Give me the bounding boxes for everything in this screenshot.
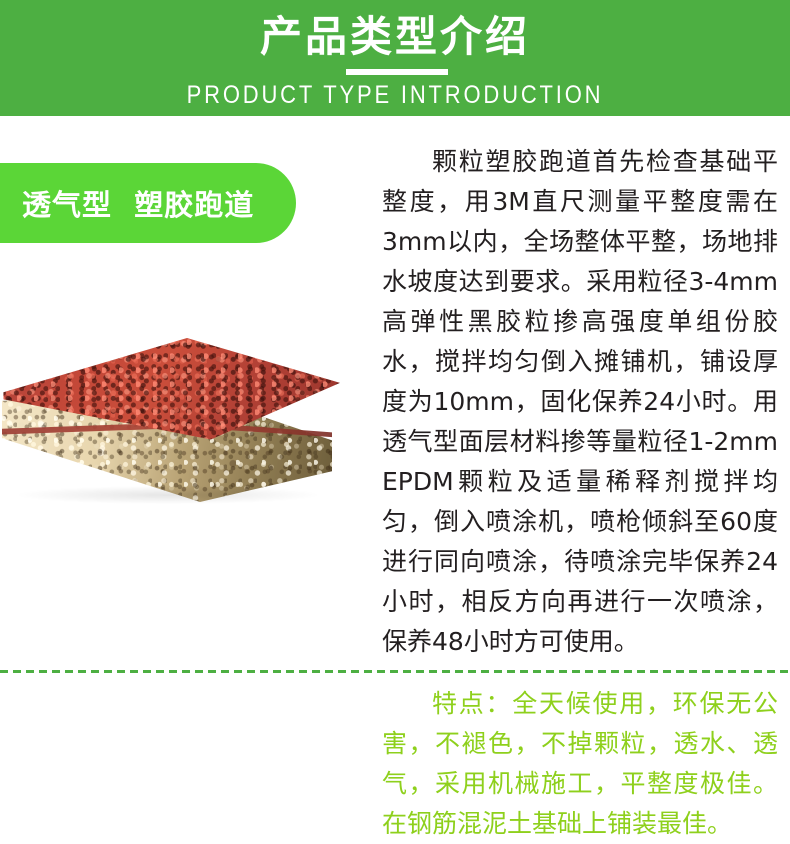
- page-header-banner: 产品类型介绍 PRODUCT TYPE INTRODUCTION: [0, 0, 790, 116]
- page-title: 产品类型介绍: [0, 11, 790, 63]
- slab-drop-shadow: [18, 486, 318, 504]
- title-divider: [346, 69, 448, 75]
- section-divider-dashed: [0, 670, 790, 673]
- description-column: 颗粒塑胶跑道首先检查基础平整度，用3M直尺测量平整度需在3mm以内，全场整体平整…: [382, 142, 778, 844]
- track-slab-illustration: [0, 330, 340, 515]
- product-type-badge: 透气型 塑胶跑道: [0, 163, 296, 243]
- page-subtitle: PRODUCT TYPE INTRODUCTION: [47, 80, 742, 110]
- product-sample-photo: [0, 330, 340, 515]
- product-features-paragraph: 特点：全天候使用，环保无公害，不褪色，不掉颗粒，透水、透气，采用机械施工，平整度…: [382, 684, 778, 844]
- product-type-badge-label: 透气型 塑胶跑道: [0, 182, 254, 224]
- product-description-paragraph: 颗粒塑胶跑道首先检查基础平整度，用3M直尺测量平整度需在3mm以内，全场整体平整…: [382, 142, 778, 662]
